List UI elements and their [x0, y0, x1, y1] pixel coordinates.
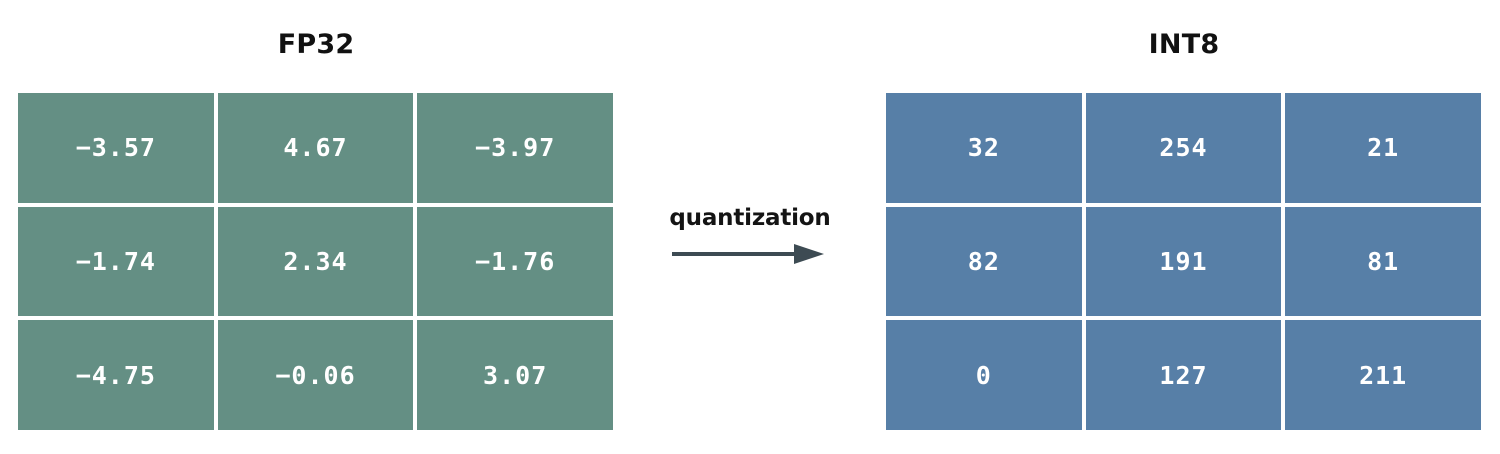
quantization-arrow-group: quantization [650, 205, 850, 285]
arrow-right-icon [672, 243, 828, 265]
matrix-cell: −1.74 [18, 207, 214, 317]
matrix-cell: 191 [1086, 207, 1282, 317]
matrix-fp32: −3.57 4.67 −3.97 −1.74 2.34 −1.76 −4.75 … [18, 93, 613, 430]
quantization-label: quantization [669, 205, 830, 231]
matrix-cell: −0.06 [218, 320, 414, 430]
matrix-cell: −1.76 [417, 207, 613, 317]
matrix-cell: −3.57 [18, 93, 214, 203]
matrix-cell: 21 [1285, 93, 1481, 203]
page-title-fp32: FP32 [278, 29, 355, 60]
matrix-cell: 127 [1086, 320, 1282, 430]
matrix-cell: 32 [886, 93, 1082, 203]
matrix-cell: 82 [886, 207, 1082, 317]
matrix-cell: 3.07 [417, 320, 613, 430]
matrix-cell: −4.75 [18, 320, 214, 430]
matrix-int8: 32 254 21 82 191 81 0 127 211 [886, 93, 1481, 430]
page-title-int8: INT8 [1149, 29, 1220, 60]
matrix-cell: 81 [1285, 207, 1481, 317]
matrix-cell: 4.67 [218, 93, 414, 203]
matrix-cell: 0 [886, 320, 1082, 430]
matrix-cell: 2.34 [218, 207, 414, 317]
matrix-cell: 211 [1285, 320, 1481, 430]
diagram-canvas: FP32 INT8 −3.57 4.67 −3.97 −1.74 2.34 −1… [0, 0, 1500, 454]
matrix-cell: −3.97 [417, 93, 613, 203]
matrix-cell: 254 [1086, 93, 1282, 203]
